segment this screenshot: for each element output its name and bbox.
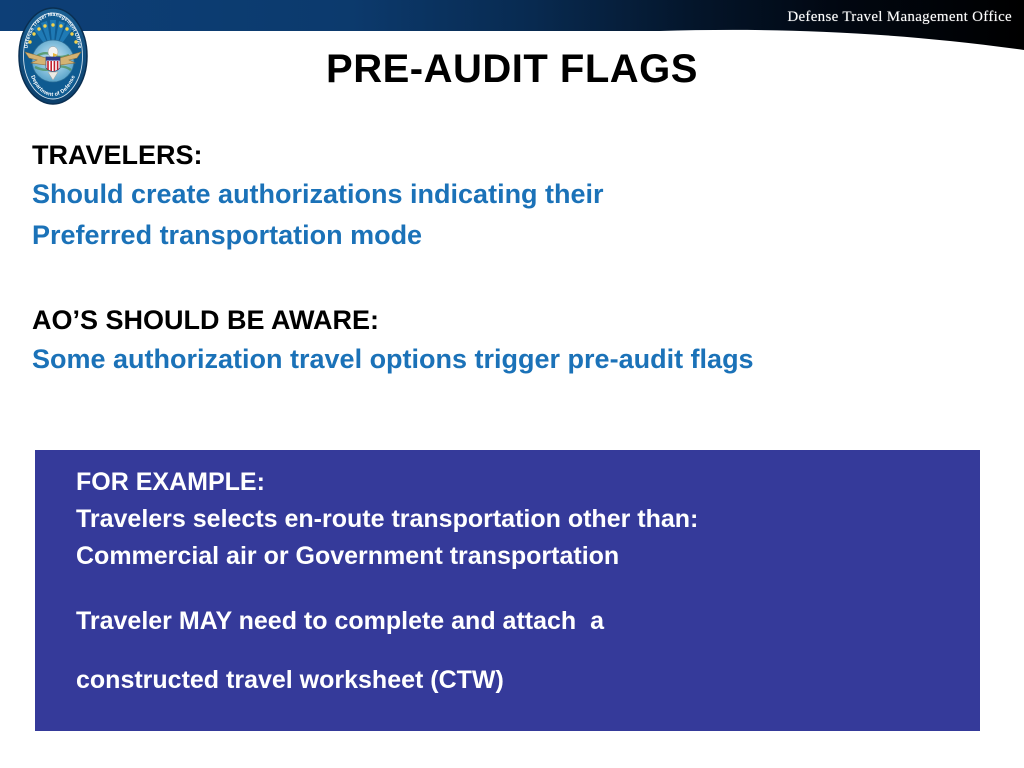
section-spacer	[32, 263, 992, 307]
section-line: Should create authorizations indicating …	[32, 181, 992, 208]
example-spacer	[76, 581, 980, 609]
page-title: PRE-AUDIT FLAGS	[0, 47, 1024, 92]
section-line: Some authorization travel options trigge…	[32, 346, 992, 373]
org-title: Defense Travel Management Office	[787, 9, 1012, 26]
example-closing-line: Traveler MAY need to complete and attach…	[76, 609, 980, 634]
example-closing-line: constructed travel worksheet (CTW)	[76, 668, 980, 693]
dod-seal-icon: Defense Travel Management Office Departm…	[17, 6, 89, 106]
slide-body: TRAVELERS: Should create authorizations …	[32, 142, 992, 387]
banner-background	[0, 0, 1024, 52]
example-line: Commercial air or Government transportat…	[76, 544, 980, 569]
header-banner: Defense Travel Management Office	[0, 0, 1024, 52]
example-heading: FOR EXAMPLE:	[76, 470, 980, 495]
section-line: Preferred transportation mode	[32, 222, 992, 249]
section-heading: TRAVELERS:	[32, 142, 992, 169]
example-callout-box: FOR EXAMPLE: Travelers selects en-route …	[35, 450, 980, 731]
section-heading: AO’S SHOULD BE AWARE:	[32, 307, 992, 334]
section-aos: AO’S SHOULD BE AWARE: Some authorization…	[32, 307, 992, 373]
section-travelers: TRAVELERS: Should create authorizations …	[32, 142, 992, 249]
example-line: Travelers selects en-route transportatio…	[76, 507, 980, 532]
